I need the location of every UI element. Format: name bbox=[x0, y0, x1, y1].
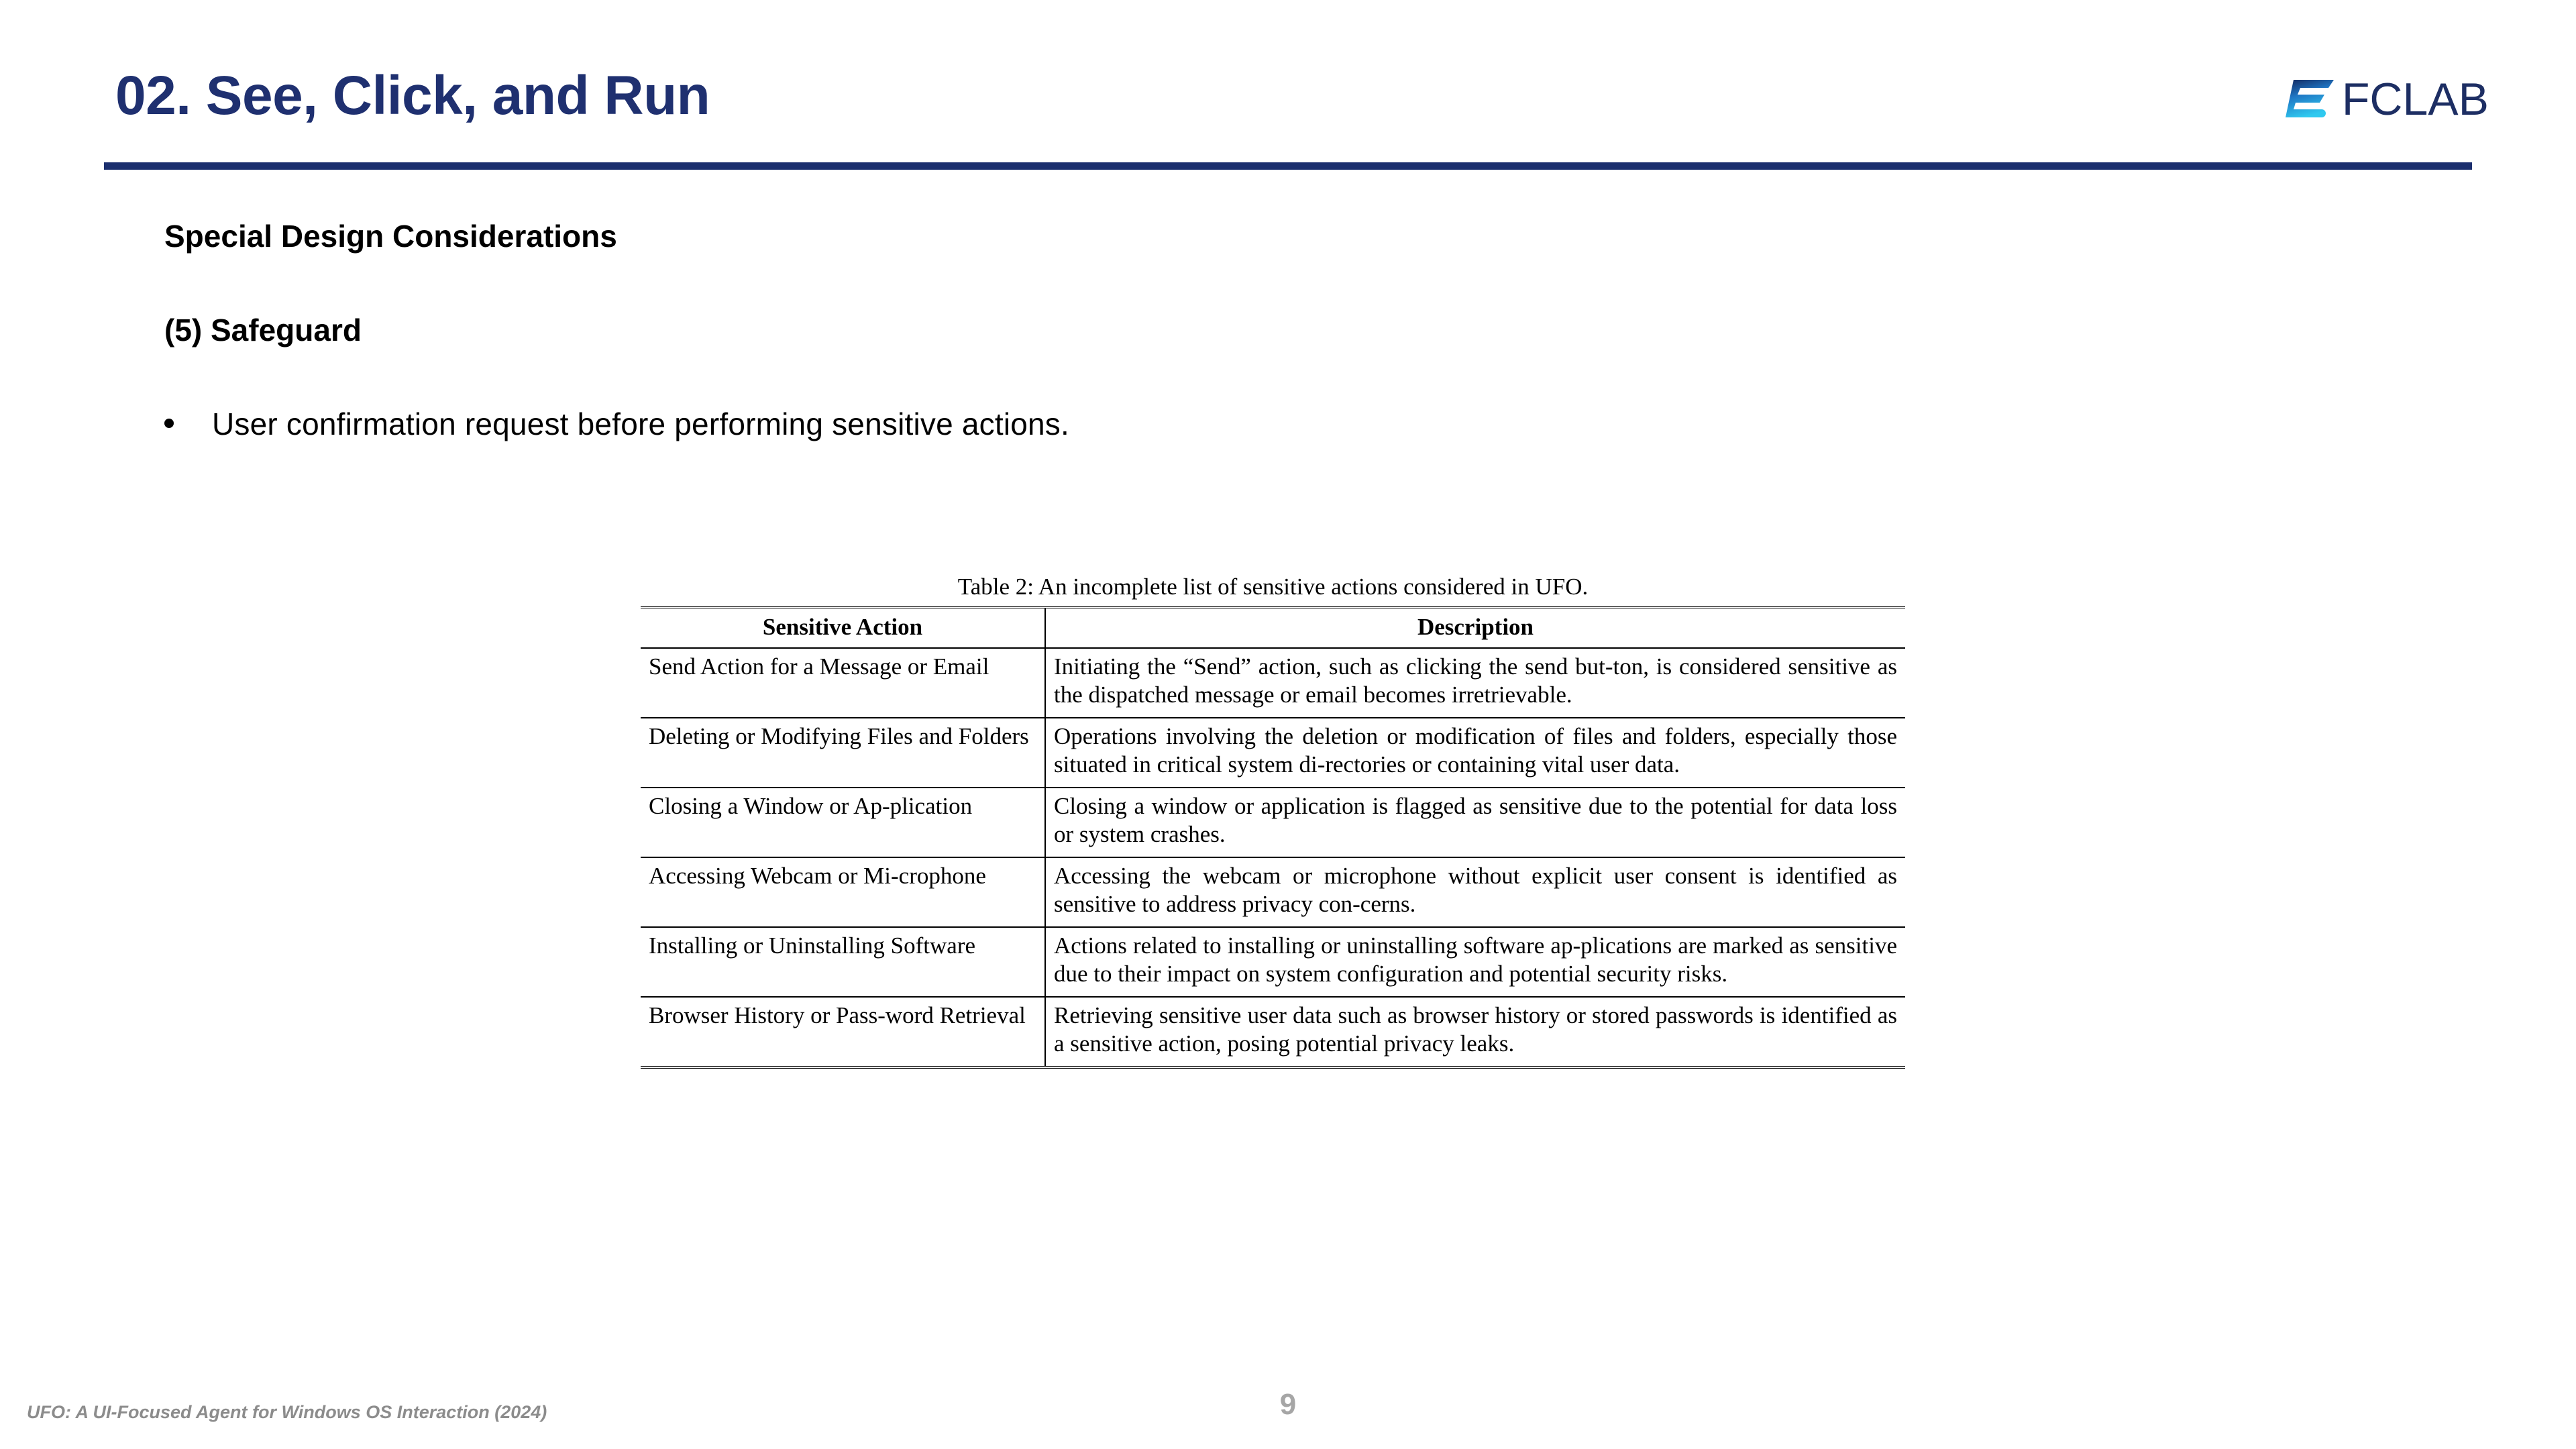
column-header-description: Description bbox=[1045, 608, 1905, 649]
table-header-row: Sensitive Action Description bbox=[641, 608, 1905, 649]
cell-description: Initiating the “Send” action, such as cl… bbox=[1045, 648, 1905, 718]
table-row: Accessing Webcam or Mi-crophone Accessin… bbox=[641, 857, 1905, 927]
page-number: 9 bbox=[0, 1388, 2576, 1421]
page-title: 02. See, Click, and Run bbox=[115, 64, 710, 127]
brand-logo: FCLAB bbox=[2283, 74, 2489, 125]
table-row: Installing or Uninstalling Software Acti… bbox=[641, 927, 1905, 997]
cell-description: Closing a window or application is flagg… bbox=[1045, 788, 1905, 857]
column-header-sensitive-action: Sensitive Action bbox=[641, 608, 1045, 649]
bullet-list-item: User confirmation request before perform… bbox=[164, 406, 1069, 442]
section-heading-considerations: Special Design Considerations bbox=[164, 218, 617, 254]
cell-description: Operations involving the deletion or mod… bbox=[1045, 718, 1905, 788]
cell-sensitive-action: Send Action for a Message or Email bbox=[641, 648, 1045, 718]
table-row: Closing a Window or Ap-plication Closing… bbox=[641, 788, 1905, 857]
cell-sensitive-action: Browser History or Pass-word Retrieval bbox=[641, 997, 1045, 1067]
cell-description: Retrieving sensitive user data such as b… bbox=[1045, 997, 1905, 1067]
table-figure: Table 2: An incomplete list of sensitive… bbox=[641, 574, 1905, 1069]
cell-sensitive-action: Installing or Uninstalling Software bbox=[641, 927, 1045, 997]
fclab-f-mark-icon bbox=[2283, 78, 2335, 120]
table-row: Send Action for a Message or Email Initi… bbox=[641, 648, 1905, 718]
bullet-item-label: User confirmation request before perform… bbox=[212, 406, 1069, 442]
cell-sensitive-action: Deleting or Modifying Files and Folders bbox=[641, 718, 1045, 788]
brand-wordmark: FCLAB bbox=[2342, 76, 2489, 122]
bullet-dot-icon bbox=[164, 419, 174, 428]
table-row: Deleting or Modifying Files and Folders … bbox=[641, 718, 1905, 788]
section-heading-safeguard: (5) Safeguard bbox=[164, 312, 362, 348]
cell-sensitive-action: Closing a Window or Ap-plication bbox=[641, 788, 1045, 857]
table-row: Browser History or Pass-word Retrieval R… bbox=[641, 997, 1905, 1067]
cell-description: Accessing the webcam or microphone witho… bbox=[1045, 857, 1905, 927]
cell-description: Actions related to installing or uninsta… bbox=[1045, 927, 1905, 997]
cell-sensitive-action: Accessing Webcam or Mi-crophone bbox=[641, 857, 1045, 927]
title-underline-rule bbox=[104, 162, 2472, 170]
table-caption: Table 2: An incomplete list of sensitive… bbox=[641, 574, 1905, 600]
sensitive-actions-table: Sensitive Action Description Send Action… bbox=[641, 606, 1905, 1069]
